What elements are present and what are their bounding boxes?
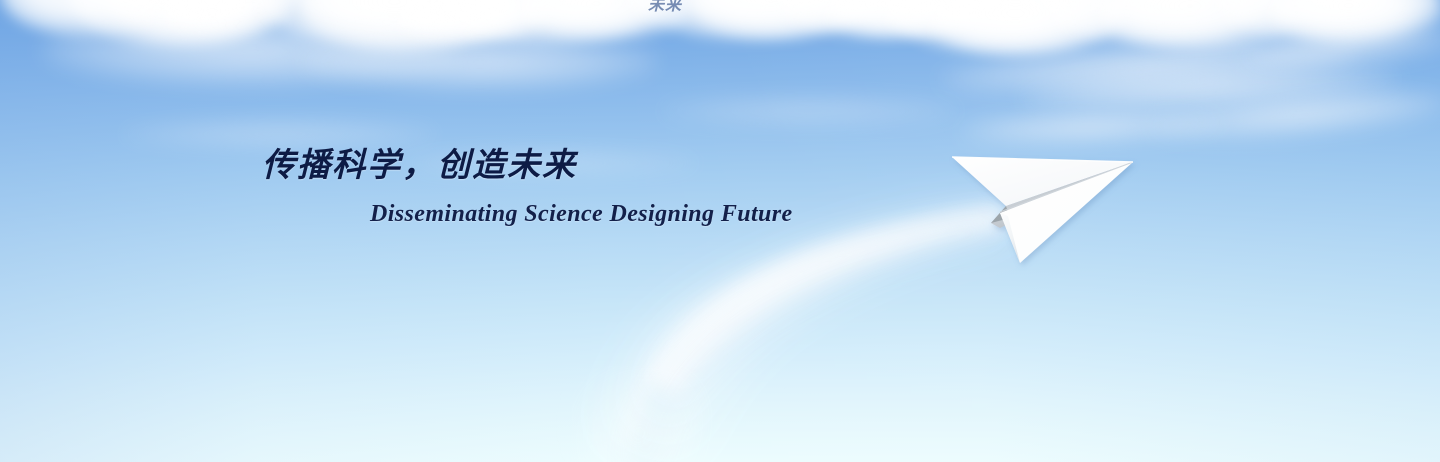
- slogan-chinese: 传播科学，创造未来: [262, 146, 1022, 185]
- paper-airplane-icon: [0, 0, 1440, 462]
- slogan-english: Disseminating Science Designing Future: [262, 185, 1022, 228]
- top-edge-text-remnant: 未来: [648, 0, 682, 15]
- slogan-block: 传播科学，创造未来 Disseminating Science Designin…: [262, 146, 1022, 228]
- sky-banner: 传播科学，创造未来 Disseminating Science Designin…: [0, 0, 1440, 462]
